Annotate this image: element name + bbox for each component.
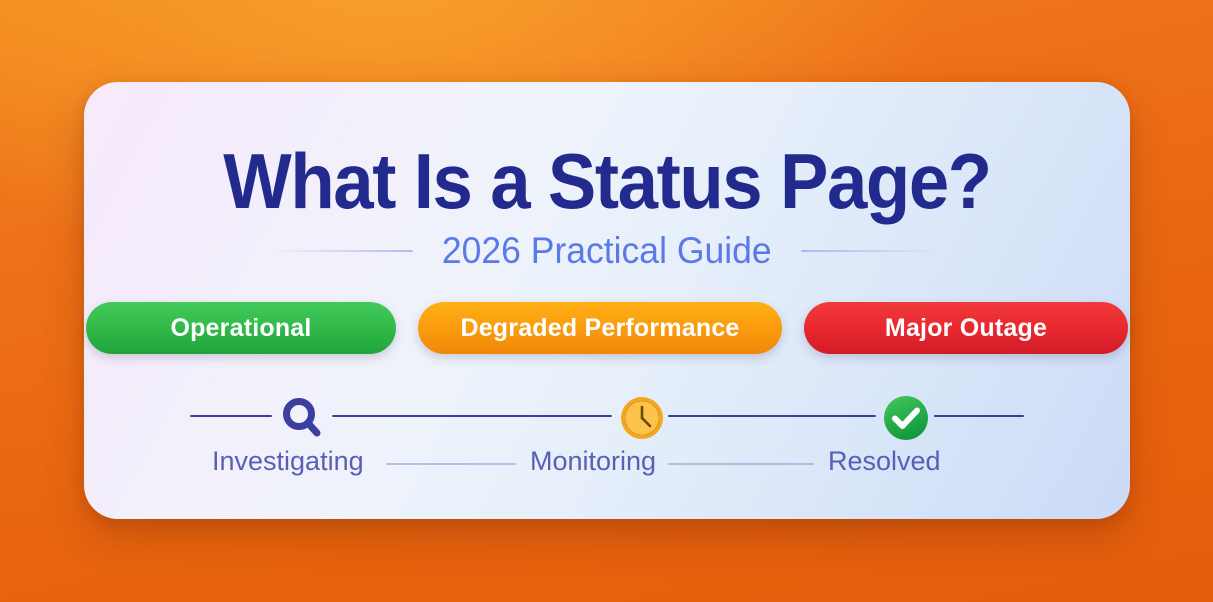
incident-timeline: Investigating Monitoring Resolved [190, 398, 1024, 500]
timeline-rail-segment [668, 415, 876, 417]
timeline-node-resolved[interactable] [876, 398, 936, 438]
status-badge-major-outage[interactable]: Major Outage [804, 302, 1128, 354]
timeline-node-investigating[interactable] [272, 398, 332, 438]
page-subtitle: 2026 Practical Guide [442, 230, 772, 272]
clock-icon [619, 395, 665, 441]
timeline-label-rule [386, 463, 516, 465]
timeline-label-monitoring: Monitoring [530, 446, 656, 477]
timeline-node-monitoring[interactable] [612, 398, 672, 438]
status-badge-group: Operational Degraded Performance Major O… [84, 302, 1130, 354]
poster-canvas: What Is a Status Page? 2026 Practical Gu… [0, 0, 1213, 602]
status-badge-degraded-performance[interactable]: Degraded Performance [418, 302, 782, 354]
magnifier-icon [276, 392, 328, 444]
timeline-rail-segment [934, 415, 1024, 417]
timeline-label-resolved: Resolved [828, 446, 941, 477]
timeline-label-rule [668, 463, 814, 465]
timeline-label-investigating: Investigating [212, 446, 364, 477]
timeline-rail-segment [190, 415, 272, 417]
check-circle-icon [882, 394, 930, 442]
subtitle-rule-left [273, 250, 413, 252]
status-page-card: What Is a Status Page? 2026 Practical Gu… [84, 82, 1130, 519]
status-badge-operational[interactable]: Operational [86, 302, 396, 354]
subtitle-row: 2026 Practical Guide [84, 230, 1130, 272]
subtitle-rule-right [801, 250, 941, 252]
timeline-rail-segment [332, 415, 612, 417]
page-title: What Is a Status Page? [121, 142, 1094, 220]
timeline-labels: Investigating Monitoring Resolved [190, 446, 1024, 486]
